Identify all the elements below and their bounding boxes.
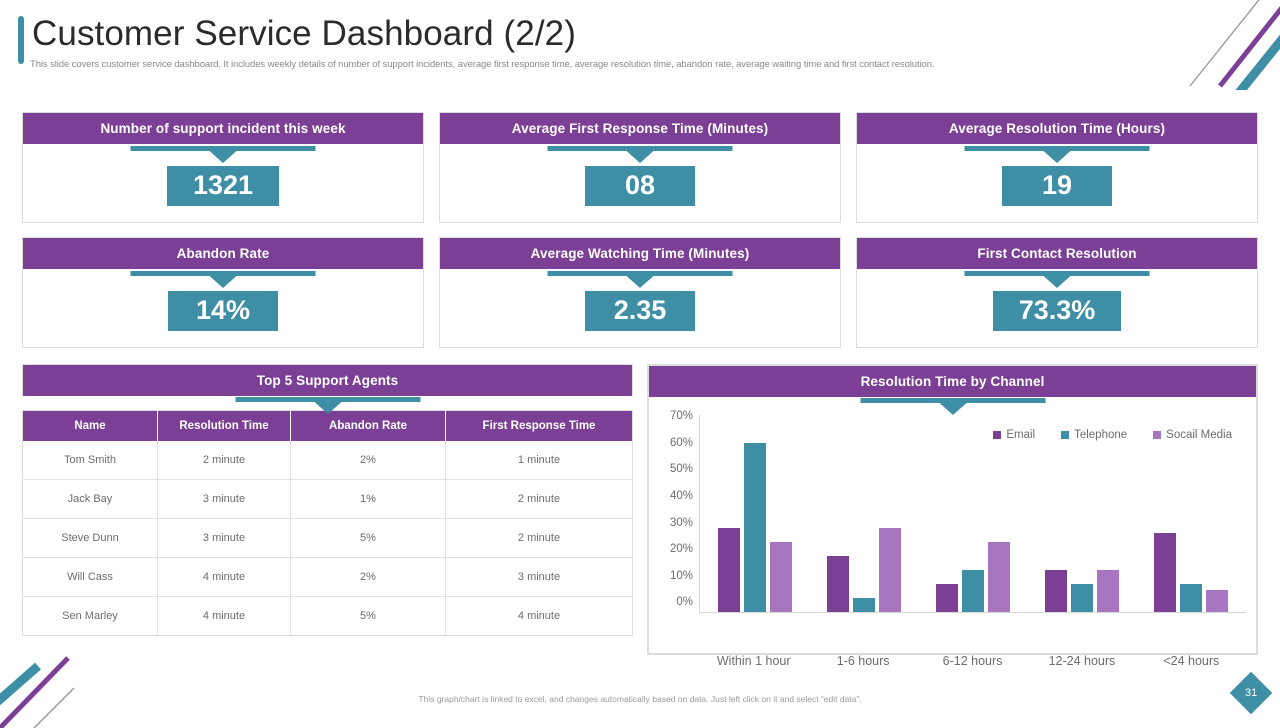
cell-name: Jack Bay [23,480,158,519]
plot-wrapper: 70% 60% 50% 40% 30% 20% 10% 0% [657,411,1246,647]
cell-abandon: 2% [291,441,446,480]
bar-group [809,415,918,612]
bar-email[interactable] [718,528,740,612]
bar-socail-media[interactable] [1206,590,1228,613]
kpi-card-watching-time[interactable]: Average Watching Time (Minutes) 2.35 [439,237,841,348]
cell-resolution: 2 minute [158,441,291,480]
cell-first-response: 4 minute [446,597,633,636]
kpi-value: 2.35 [585,291,695,331]
y-tick: 60% [670,438,693,450]
table-row[interactable]: Sen Marley 4 minute 5% 4 minute [23,597,633,636]
cell-resolution: 3 minute [158,480,291,519]
bar-telephone[interactable] [744,443,766,612]
cell-first-response: 2 minute [446,519,633,558]
x-tick: 6-12 hours [918,654,1027,668]
y-tick: 10% [670,571,693,583]
kpi-value: 1321 [167,166,279,206]
kpi-value: 14% [168,291,278,331]
bar-email[interactable] [936,584,958,612]
table-row[interactable]: Tom Smith 2 minute 2% 1 minute [23,441,633,480]
kpi-card-header: First Contact Resolution [857,238,1257,269]
kpi-card-header: Abandon Rate [23,238,423,269]
bar-socail-media[interactable] [1097,570,1119,612]
bar-telephone[interactable] [1071,584,1093,612]
x-tick: 12-24 hours [1027,654,1136,668]
footer-note: This graph/chart is linked to excel, and… [0,694,1280,704]
bottom-row: Top 5 Support Agents Name Resolution Tim… [22,364,1258,655]
x-tick: 1-6 hours [808,654,917,668]
kpi-card-header: Number of support incident this week [23,113,423,144]
cell-first-response: 3 minute [446,558,633,597]
kpi-card-first-contact-resolution[interactable]: First Contact Resolution 73.3% [856,237,1258,348]
page-subtitle: This slide covers customer service dashb… [30,59,1280,70]
x-tick: <24 hours [1137,654,1246,668]
kpi-card-support-incidents[interactable]: Number of support incident this week 132… [22,112,424,223]
table-row[interactable]: Jack Bay 3 minute 1% 2 minute [23,480,633,519]
resolution-chart-title: Resolution Time by Channel [861,374,1045,389]
cell-name: Tom Smith [23,441,158,480]
cell-name: Steve Dunn [23,519,158,558]
cell-name: Will Cass [23,558,158,597]
bar-socail-media[interactable] [879,528,901,612]
bar-socail-media[interactable] [770,542,792,612]
resolution-chart-header: Resolution Time by Channel [648,365,1257,397]
kpi-card-header: Average Watching Time (Minutes) [440,238,840,269]
page-number: 31 [1245,687,1257,699]
kpi-label: Average First Response Time (Minutes) [512,121,769,136]
cell-resolution: 4 minute [158,597,291,636]
kpi-row-2: Abandon Rate 14% Average Watching Time (… [22,237,1258,348]
column-header-first-response[interactable]: First Response Time [446,411,633,442]
bar-email[interactable] [827,556,849,612]
kpi-card-body: 2.35 [440,269,840,345]
cell-abandon: 2% [291,558,446,597]
bar-telephone[interactable] [962,570,984,612]
cell-name: Sen Marley [23,597,158,636]
kpi-card-body: 19 [857,144,1257,220]
table-row[interactable]: Steve Dunn 3 minute 5% 2 minute [23,519,633,558]
column-header-resolution[interactable]: Resolution Time [158,411,291,442]
resolution-chart-panel: Resolution Time by Channel Email Telepho… [647,364,1258,655]
cell-resolution: 3 minute [158,519,291,558]
plot-area [699,415,1246,613]
cell-abandon: 5% [291,519,446,558]
kpi-card-body: 1321 [23,144,423,220]
cell-resolution: 4 minute [158,558,291,597]
y-tick: 0% [676,597,693,609]
agents-table: Name Resolution Time Abandon Rate First … [22,410,633,636]
kpi-value: 08 [585,166,695,206]
bar-socail-media[interactable] [988,542,1010,612]
kpi-label: Average Resolution Time (Hours) [949,121,1165,136]
kpi-card-first-response-time[interactable]: Average First Response Time (Minutes) 08 [439,112,841,223]
cell-abandon: 1% [291,480,446,519]
cell-first-response: 2 minute [446,480,633,519]
x-axis-labels: Within 1 hour 1-6 hours 6-12 hours 12-24… [699,654,1246,668]
kpi-card-header: Average Resolution Time (Hours) [857,113,1257,144]
y-tick: 20% [670,544,693,556]
title-accent-bar [18,16,24,64]
page-header: Customer Service Dashboard (2/2) This sl… [0,0,1280,70]
kpi-card-body: 73.3% [857,269,1257,345]
top-agents-panel: Top 5 Support Agents Name Resolution Tim… [22,364,633,655]
y-tick: 30% [670,518,693,530]
y-axis: 70% 60% 50% 40% 30% 20% 10% 0% [657,415,699,613]
kpi-value: 19 [1002,166,1112,206]
kpi-label: Average Watching Time (Minutes) [531,246,750,261]
top-agents-title: Top 5 Support Agents [257,373,399,388]
column-header-abandon[interactable]: Abandon Rate [291,411,446,442]
bar-group [700,415,809,612]
top-agents-header: Top 5 Support Agents [22,364,633,396]
kpi-card-abandon-rate[interactable]: Abandon Rate 14% [22,237,424,348]
cell-abandon: 5% [291,597,446,636]
kpi-label: Abandon Rate [177,246,270,261]
y-tick: 70% [670,411,693,423]
corner-decoration-bottom-left [0,648,104,728]
bar-group [1028,415,1137,612]
bar-email[interactable] [1154,533,1176,612]
bar-telephone[interactable] [1180,584,1202,612]
bar-email[interactable] [1045,570,1067,612]
bar-group [918,415,1027,612]
cell-first-response: 1 minute [446,441,633,480]
column-header-name[interactable]: Name [23,411,158,442]
page-number-badge: 31 [1230,672,1272,714]
x-tick: Within 1 hour [699,654,808,668]
kpi-card-body: 08 [440,144,840,220]
kpi-label: First Contact Resolution [977,246,1136,261]
y-tick: 50% [670,464,693,476]
kpi-row-1: Number of support incident this week 132… [22,112,1258,223]
y-tick: 40% [670,491,693,503]
kpi-label: Number of support incident this week [100,121,345,136]
kpi-card-body: 14% [23,269,423,345]
bar-group [1137,415,1246,612]
bar-telephone[interactable] [853,598,875,612]
table-row[interactable]: Will Cass 4 minute 2% 3 minute [23,558,633,597]
page-title: Customer Service Dashboard (2/2) [32,12,1280,56]
table-header-row: Name Resolution Time Abandon Rate First … [23,411,633,442]
kpi-card-resolution-time[interactable]: Average Resolution Time (Hours) 19 [856,112,1258,223]
chart-body[interactable]: Email Telephone Socail Media 70% 60% 50%… [648,397,1257,654]
kpi-card-header: Average First Response Time (Minutes) [440,113,840,144]
kpi-value: 73.3% [993,291,1122,331]
